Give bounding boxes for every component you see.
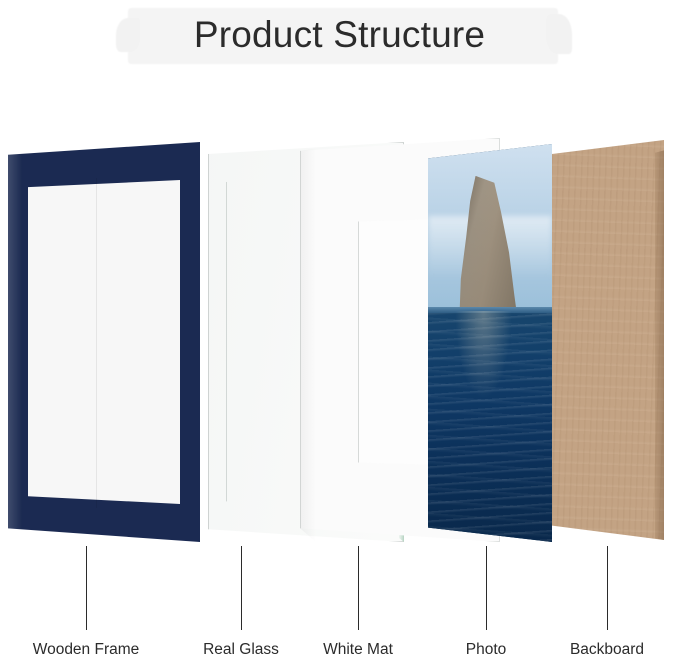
backboard-edge-shadow bbox=[655, 140, 664, 540]
backboard-fiber-texture bbox=[552, 140, 664, 540]
leader-line-real-glass bbox=[241, 546, 242, 630]
title-area: Product Structure bbox=[0, 0, 679, 80]
mat-edge-shadow bbox=[300, 138, 316, 542]
label-backboard: Backboard bbox=[570, 640, 644, 660]
frame-bevel-line bbox=[96, 178, 97, 508]
leader-line-white-mat bbox=[358, 546, 359, 630]
leader-line-photo bbox=[486, 546, 487, 630]
page-title: Product Structure bbox=[0, 9, 679, 61]
frame-edge-highlight bbox=[8, 142, 22, 542]
product-layer-stack bbox=[0, 120, 679, 540]
leader-line-backboard bbox=[607, 546, 608, 630]
photo-sun-glint bbox=[455, 311, 512, 399]
layer-wooden-frame bbox=[8, 142, 200, 542]
layer-backboard bbox=[552, 140, 664, 540]
label-real-glass: Real Glass bbox=[203, 640, 279, 660]
label-wooden-frame: Wooden Frame bbox=[33, 640, 140, 660]
leader-line-wooden-frame bbox=[86, 546, 87, 630]
label-white-mat: White Mat bbox=[323, 640, 393, 660]
frame-inner-opening bbox=[28, 180, 180, 504]
label-photo: Photo bbox=[466, 640, 507, 660]
layer-photo bbox=[428, 144, 552, 542]
photo-image bbox=[428, 144, 552, 542]
